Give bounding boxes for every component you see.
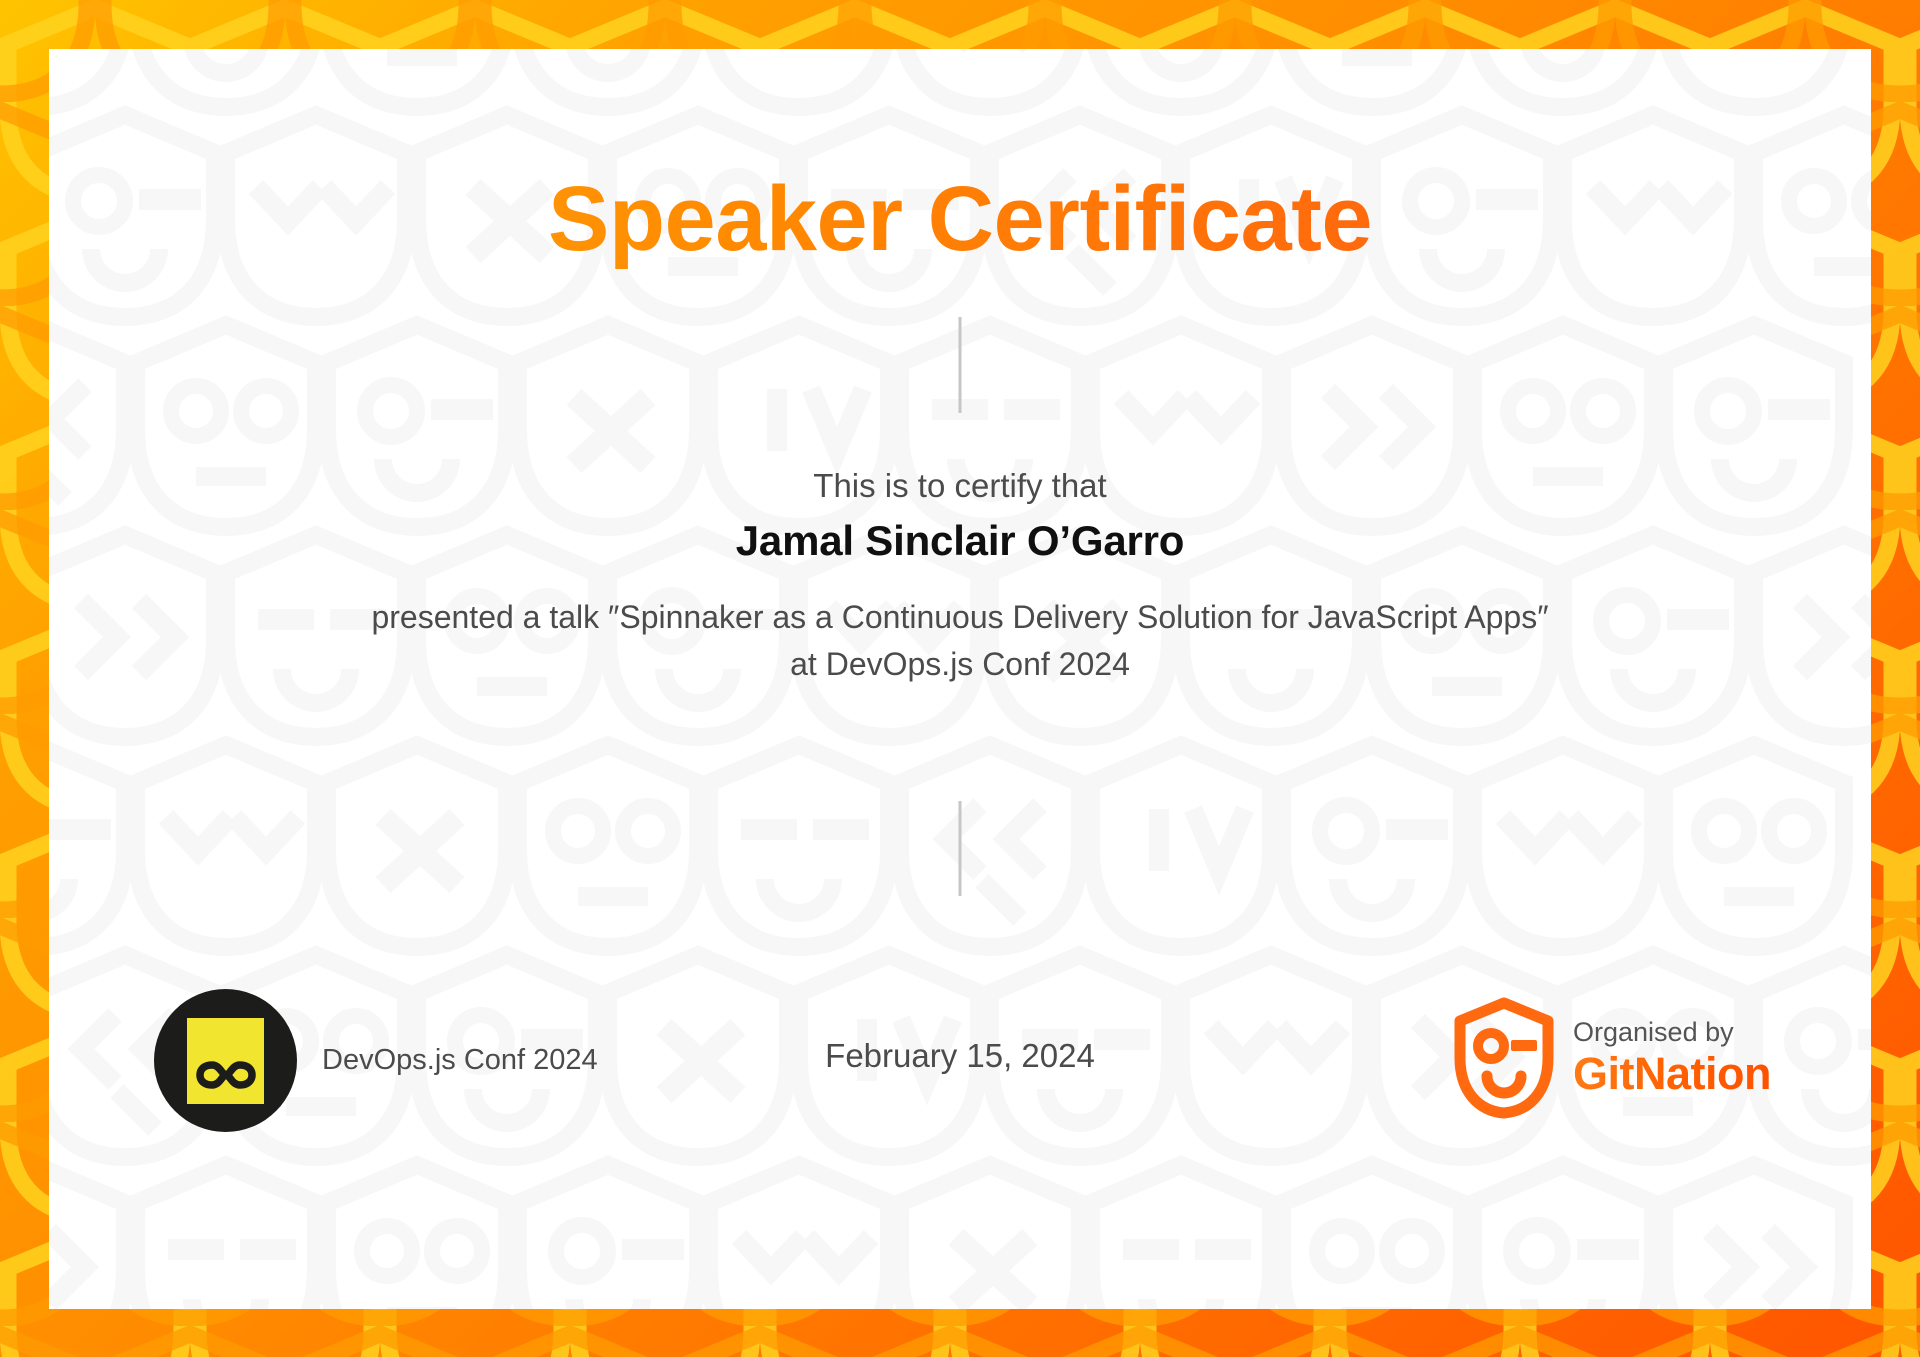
certificate-footer: DevOps.js Conf 2024 February 15, 2024 Or… [49, 989, 1871, 1189]
gitnation-shield-face-icon [1453, 996, 1555, 1120]
certificate-content: Speaker Certificate This is to certify t… [49, 49, 1871, 1309]
organiser-block: Organised by GitNation [1453, 996, 1771, 1120]
page-title: Speaker Certificate [49, 169, 1871, 270]
divider-bottom [959, 801, 962, 896]
certificate-card: Speaker Certificate This is to certify t… [49, 49, 1871, 1309]
gitnation-wordmark: GitNation [1573, 1048, 1771, 1100]
talk-description: presented a talk ″Spinnaker as a Continu… [139, 594, 1781, 688]
recipient-name: Jamal Sinclair O’Garro [49, 517, 1871, 565]
talk-line-2: at DevOps.js Conf 2024 [790, 646, 1130, 682]
talk-line-1: presented a talk ″Spinnaker as a Continu… [371, 599, 1548, 635]
organiser-text: Organised by GitNation [1573, 1017, 1771, 1100]
certify-line: This is to certify that [49, 467, 1871, 505]
divider-top [959, 317, 962, 413]
certificate-frame: Speaker Certificate This is to certify t… [0, 0, 1920, 1357]
organised-by-label: Organised by [1573, 1017, 1771, 1048]
